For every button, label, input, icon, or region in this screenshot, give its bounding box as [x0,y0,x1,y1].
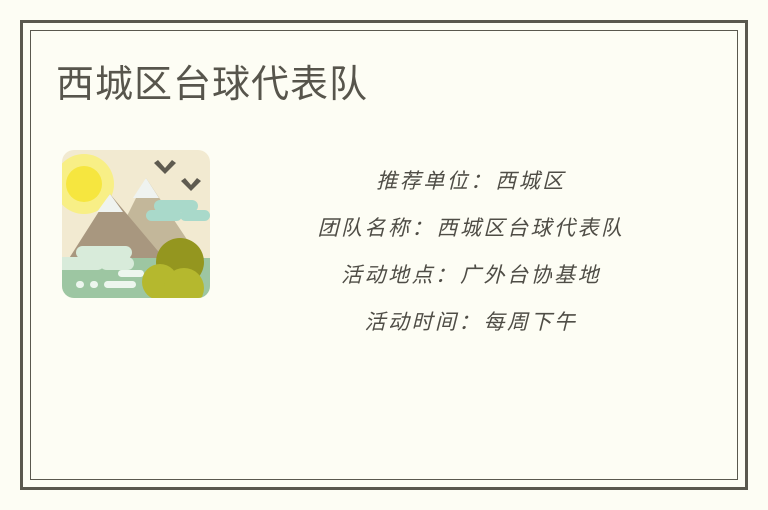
detail-row-activity-location: 活动地点：广外台协基地 [226,252,716,299]
team-info-card: 西城区台球代表队 [0,0,768,510]
detail-separator: ： [412,216,437,240]
page-title: 西城区台球代表队 [56,62,368,108]
detail-label: 团队名称 [318,216,412,240]
detail-row-activity-time: 活动时间：每周下午 [226,299,716,346]
detail-row-team-name: 团队名称：西城区台球代表队 [226,205,716,252]
detail-row-recommending-unit: 推荐单位：西城区 [226,158,716,205]
detail-list: 推荐单位：西城区 团队名称：西城区台球代表队 活动地点：广外台协基地 活动时间：… [226,158,716,346]
detail-label: 推荐单位 [376,169,470,193]
detail-label: 活动时间 [365,310,459,334]
detail-value: 每周下午 [484,310,578,334]
landscape-thumbnail-image [62,150,210,298]
detail-value: 西城区 [495,169,566,193]
detail-separator: ： [459,310,484,334]
detail-separator: ： [435,263,460,287]
detail-value: 广外台协基地 [460,263,601,287]
detail-value: 西城区台球代表队 [437,216,625,240]
detail-separator: ： [470,169,495,193]
card-body: 推荐单位：西城区 团队名称：西城区台球代表队 活动地点：广外台协基地 活动时间：… [56,148,716,308]
detail-label: 活动地点 [341,263,435,287]
